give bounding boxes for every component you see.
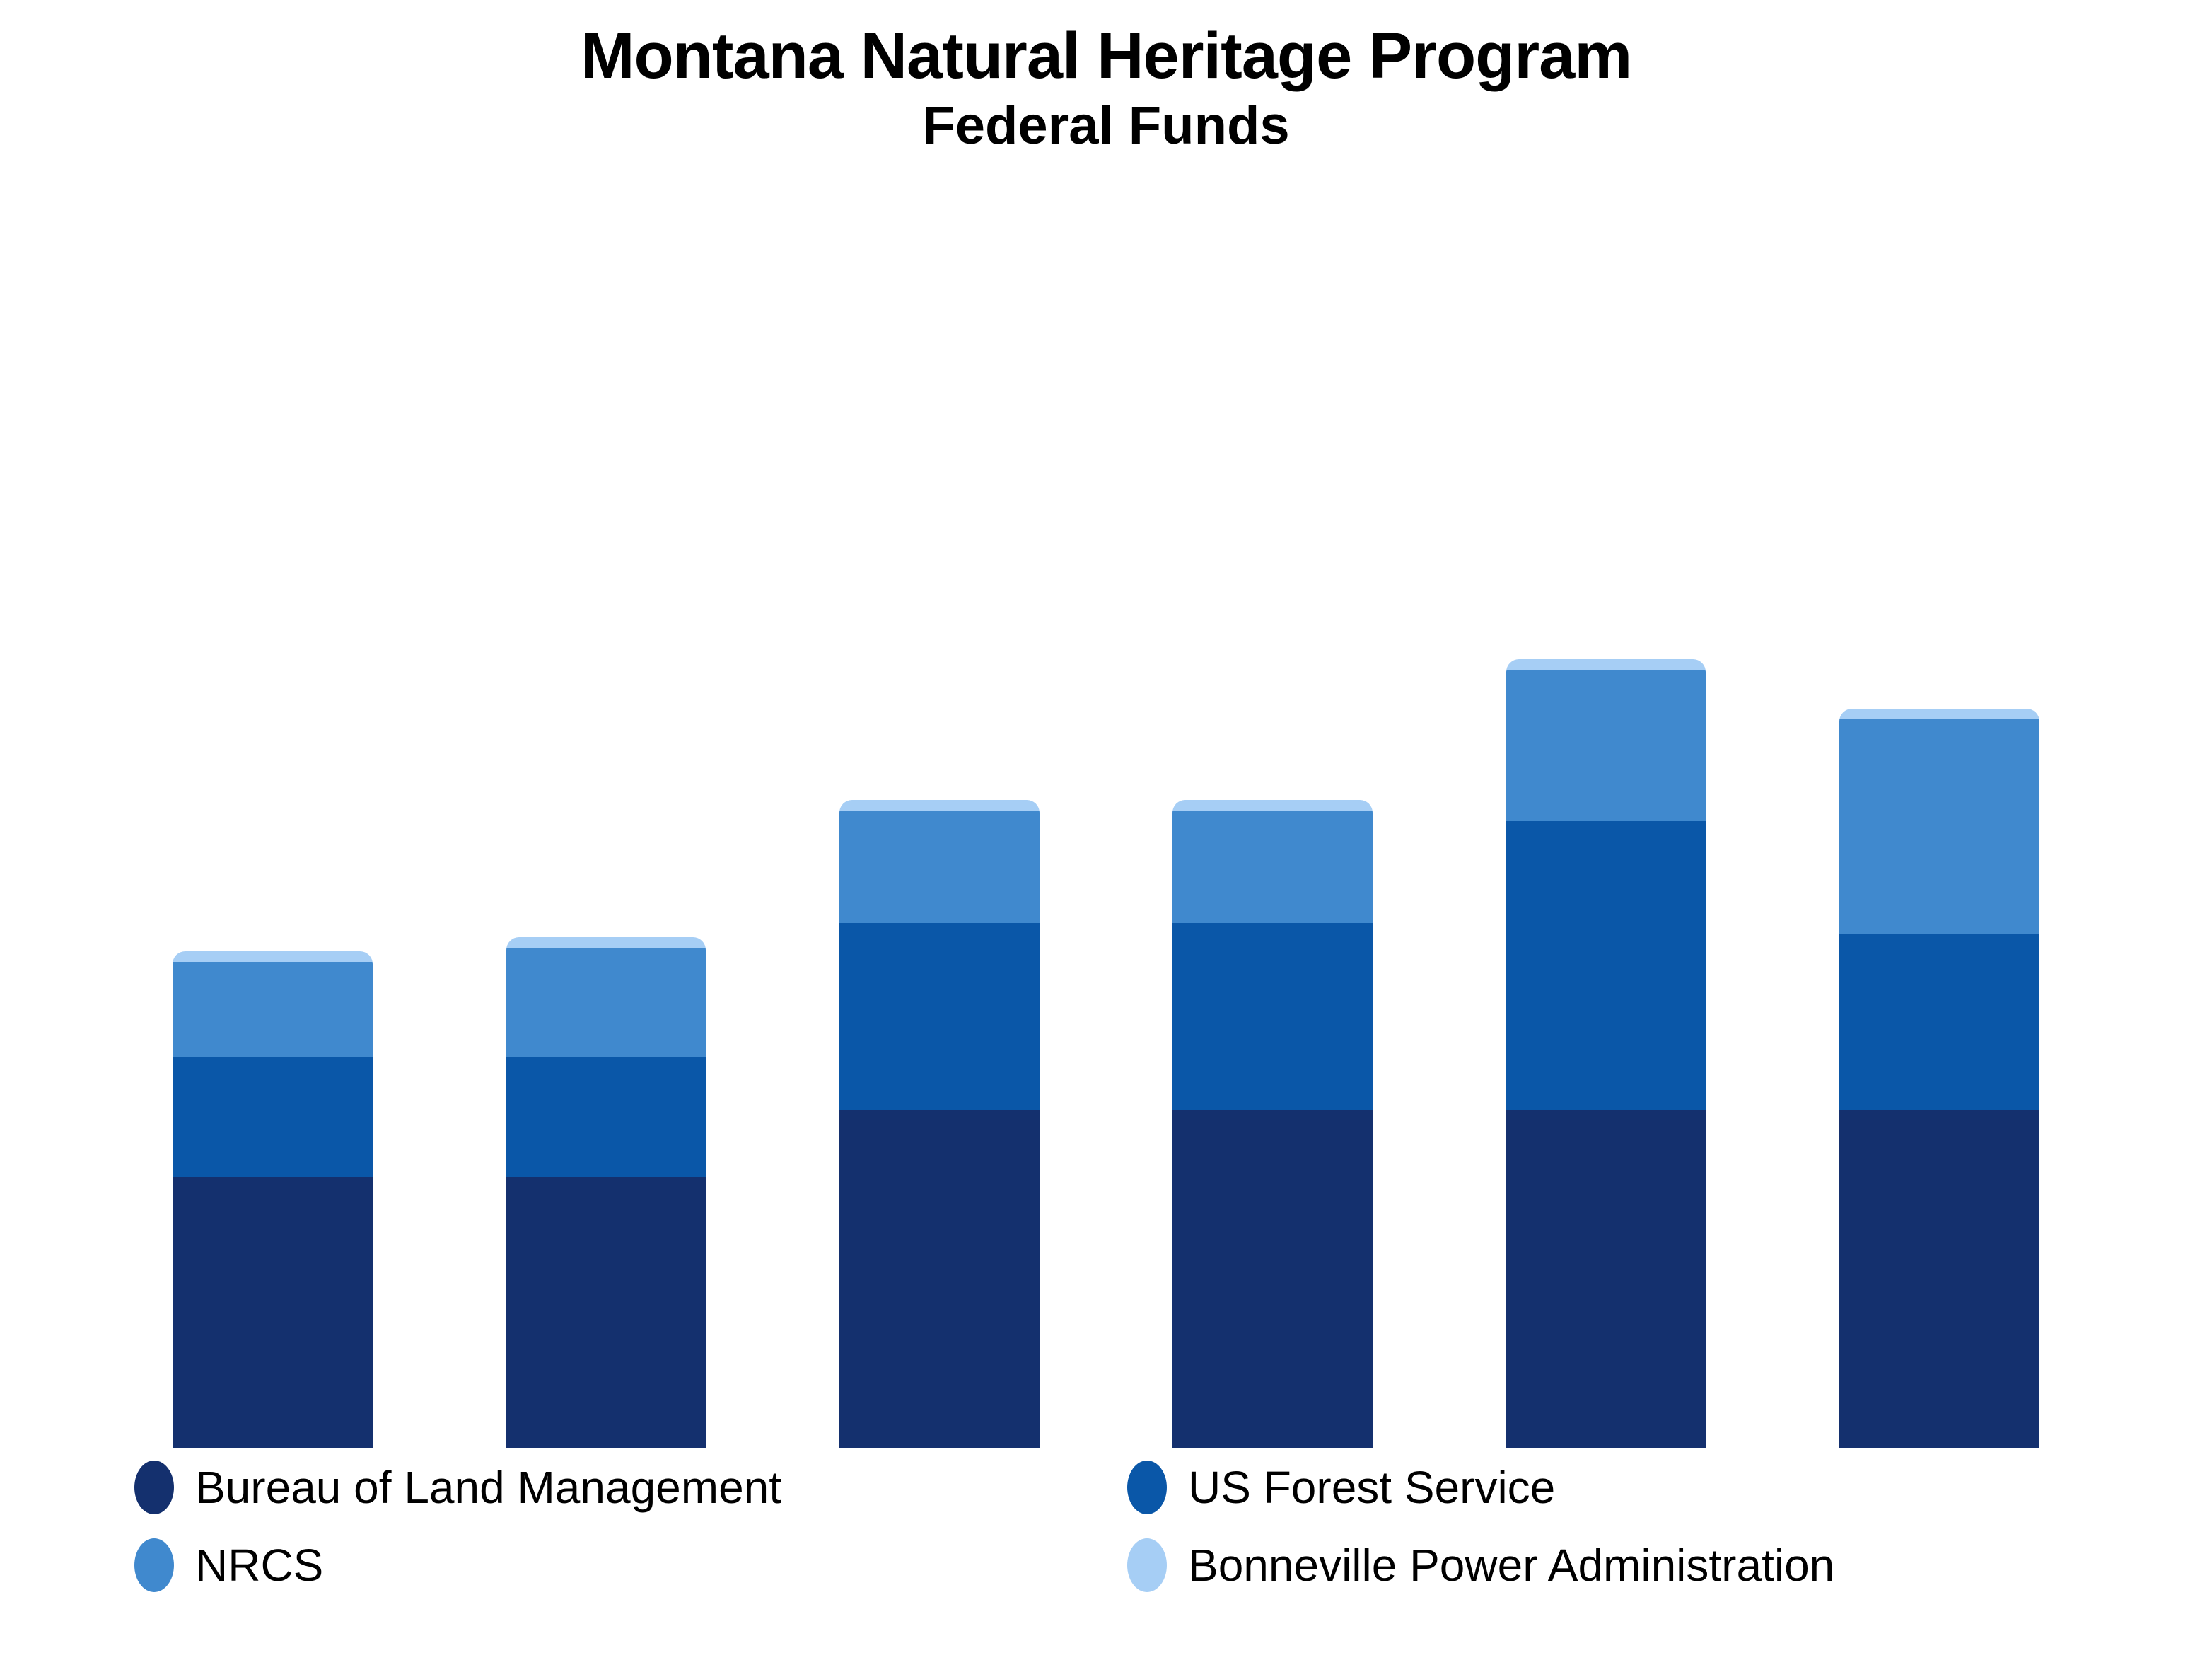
bar-stack[interactable]: $145,0002022	[506, 937, 706, 1448]
bar-group-2026: $210,0022026	[1773, 709, 2106, 1448]
plot-area: $141,0002021$145,0002022$184,0002023$184…	[106, 156, 2106, 1448]
legend-item[interactable]: Bureau of Land Management	[134, 1461, 1113, 1514]
legend-item[interactable]: US Forest Service	[1127, 1461, 2106, 1514]
bar-segment[interactable]	[1506, 670, 1706, 821]
bar-segment[interactable]	[1839, 719, 2039, 934]
bar-segment[interactable]	[1506, 1110, 1706, 1448]
legend-swatch-icon	[134, 1538, 174, 1592]
bar-group-2022: $145,0002022	[439, 937, 772, 1448]
bar-group-2021: $141,0002021	[106, 951, 439, 1448]
bar-group-2024: $184,0002024	[1106, 800, 1439, 1448]
bar-segment[interactable]	[173, 1057, 373, 1177]
bar-segment[interactable]	[1172, 811, 1373, 923]
chart-title: Montana Natural Heritage Program	[0, 21, 2212, 91]
bar-segment[interactable]	[839, 1110, 1040, 1448]
legend-label: Bonneville Power Administration	[1188, 1543, 1834, 1588]
bars-container: $141,0002021$145,0002022$184,0002023$184…	[106, 156, 2106, 1448]
bar-stack[interactable]: $141,0002021	[173, 951, 373, 1448]
legend-swatch-icon	[1127, 1538, 1167, 1592]
bar-stack[interactable]: $210,0022026	[1839, 709, 2039, 1448]
bar-segment[interactable]	[839, 800, 1040, 811]
legend-item[interactable]: NRCS	[134, 1538, 1113, 1592]
bar-segment[interactable]	[506, 1177, 706, 1448]
legend-item[interactable]: Bonneville Power Administration	[1127, 1538, 2106, 1592]
bar-group-2025: $224,0022025	[1439, 659, 1772, 1448]
bar-segment[interactable]	[173, 951, 373, 962]
bar-segment[interactable]	[839, 811, 1040, 923]
chart-legend: Bureau of Land ManagementUS Forest Servi…	[106, 1448, 2106, 1660]
bar-stack[interactable]: $184,0002024	[1172, 800, 1373, 1448]
legend-swatch-icon	[1127, 1461, 1167, 1514]
bar-segment[interactable]	[173, 1177, 373, 1448]
bar-group-2023: $184,0002023	[773, 800, 1106, 1448]
bar-segment[interactable]	[1506, 821, 1706, 1110]
bar-segment[interactable]	[1172, 1110, 1373, 1448]
legend-label: NRCS	[195, 1543, 323, 1588]
bar-segment[interactable]	[1172, 923, 1373, 1110]
bar-segment[interactable]	[1172, 800, 1373, 811]
bar-segment[interactable]	[1506, 659, 1706, 670]
bar-segment[interactable]	[1839, 934, 2039, 1110]
bar-segment[interactable]	[506, 948, 706, 1057]
stacked-bar-chart: Montana Natural Heritage Program Federal…	[0, 0, 2212, 1660]
bar-stack[interactable]: $184,0002023	[839, 800, 1040, 1448]
bar-segment[interactable]	[839, 923, 1040, 1110]
bar-segment[interactable]	[1839, 1110, 2039, 1448]
legend-swatch-icon	[134, 1461, 174, 1514]
bar-segment[interactable]	[506, 1057, 706, 1177]
title-block: Montana Natural Heritage Program Federal…	[0, 0, 2212, 156]
bar-segment[interactable]	[173, 962, 373, 1057]
legend-label: US Forest Service	[1188, 1465, 1555, 1510]
bar-segment[interactable]	[506, 937, 706, 948]
bar-segment[interactable]	[1839, 709, 2039, 719]
chart-subtitle: Federal Funds	[0, 95, 2212, 156]
bar-stack[interactable]: $224,0022025	[1506, 659, 1706, 1448]
legend-label: Bureau of Land Management	[195, 1465, 781, 1510]
